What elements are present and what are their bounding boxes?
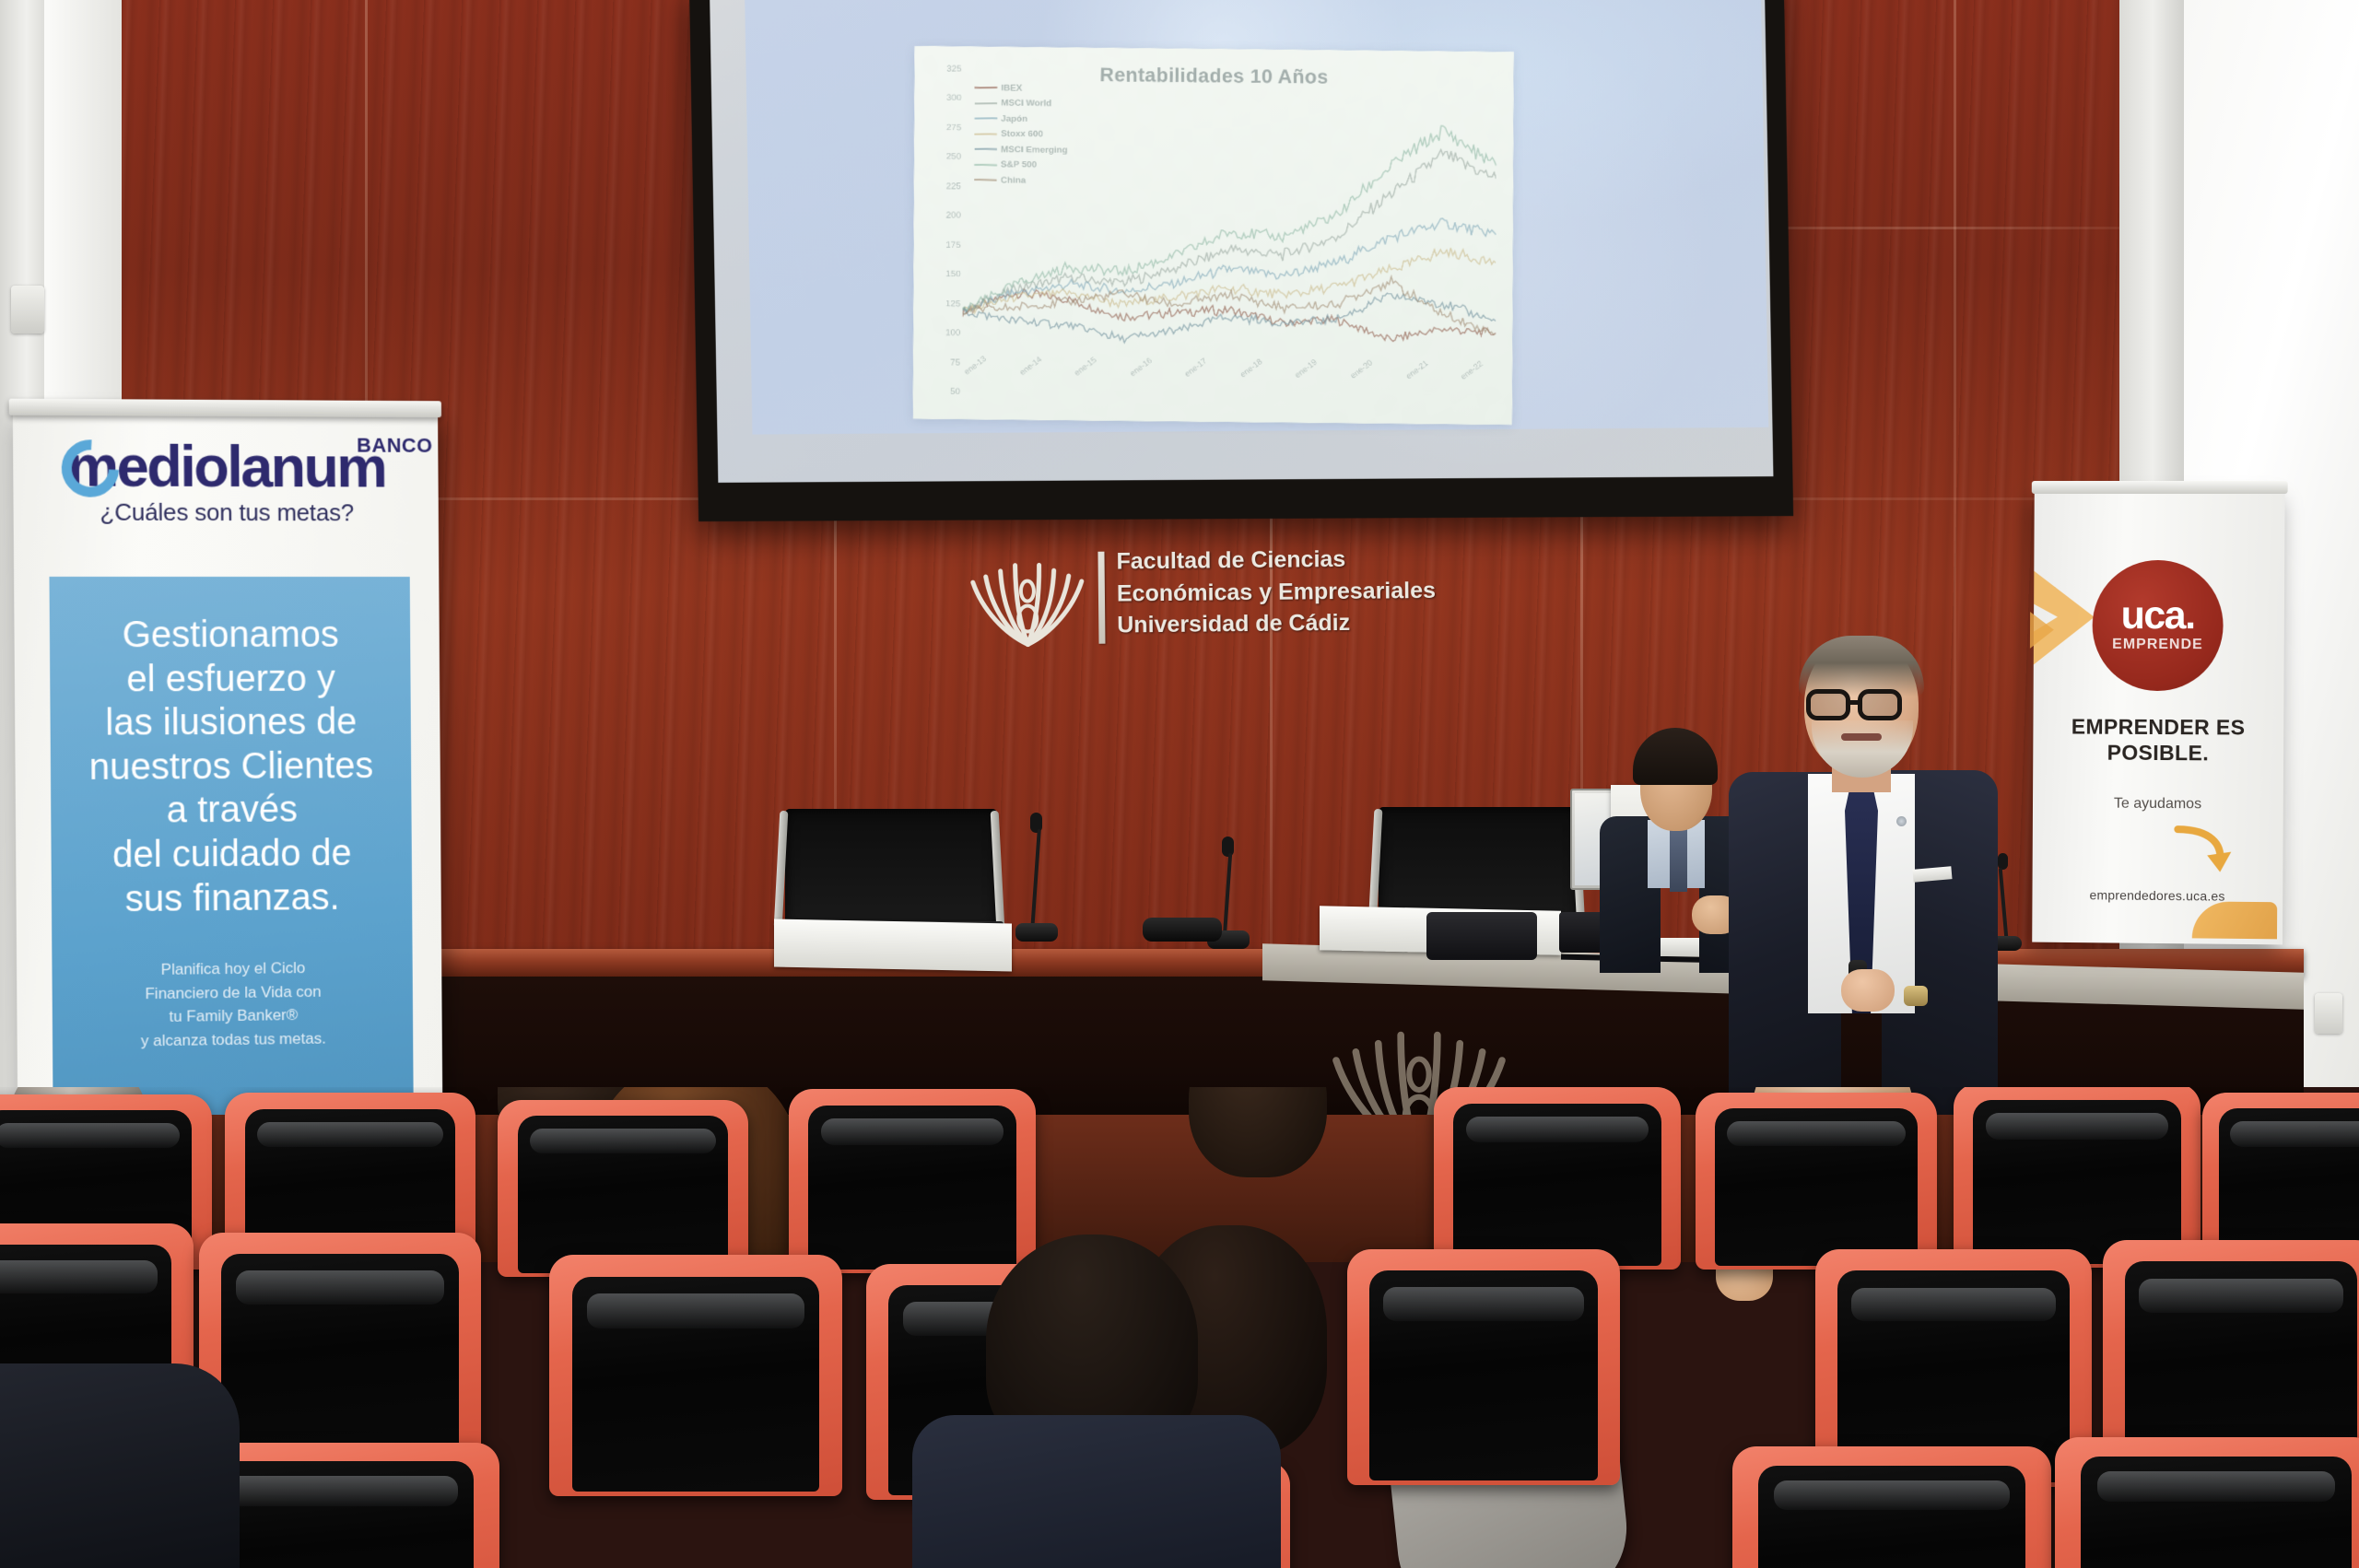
- uca-slogan-line-2: POSIBLE.: [2033, 740, 2283, 766]
- chart-series-line: [962, 214, 1496, 318]
- main-speaker: [1732, 636, 1990, 1133]
- banner-top-rail: [9, 399, 441, 418]
- speaker-mouth: [1841, 733, 1882, 741]
- seat[interactable]: [1347, 1249, 1620, 1485]
- chart-y-tick: 200: [946, 211, 961, 221]
- university-crest-icon: [967, 544, 1087, 654]
- text-line: el esfuerzo y: [50, 657, 411, 702]
- speaker-glasses-bridge: [1848, 700, 1861, 705]
- projected-image-area: Rentabilidades 10 Años 32530027525022520…: [745, 0, 1768, 435]
- speaker-hand: [1841, 969, 1895, 1012]
- chart-series-line: [962, 243, 1496, 319]
- chart-y-axis: 3253002752502252001751501251007550: [922, 68, 961, 392]
- chart-x-axis: ene-13ene-14ene-15ene-16ene-17ene-18ene-…: [962, 368, 1503, 420]
- speaker-glasses-left-lens: [1806, 689, 1850, 720]
- uca-logo-subtitle: EMPRENDE: [2112, 637, 2203, 653]
- speaker-beard: [1812, 720, 1913, 778]
- wall-outlet-icon: [11, 286, 44, 333]
- projection-screen-surface: Rentabilidades 10 Años 32530027525022520…: [710, 0, 1773, 483]
- audience-shoulders: [0, 1363, 240, 1568]
- uca-help-text: Te ayudamos: [2033, 795, 2283, 813]
- faculty-wall-sign: Facultad de Ciencias Económicas y Empres…: [967, 536, 1539, 661]
- speaker-lapel-pin: [1896, 816, 1907, 826]
- mediolanum-logo: mediolanum BANCO ¿Cuáles son tus metas?: [13, 438, 439, 527]
- chart-y-tick: 325: [946, 64, 961, 74]
- speaker-watch: [1904, 986, 1928, 1006]
- mediolanum-subtext: Planifica hoy el CicloFinanciero de la V…: [52, 955, 413, 1054]
- chart-y-tick: 50: [950, 387, 960, 397]
- chart-lines-svg: [962, 69, 1496, 371]
- uca-slogan: EMPRENDER ES POSIBLE.: [2033, 714, 2283, 766]
- curved-arrow-icon: [2174, 824, 2231, 878]
- banner-top-rail: [2032, 481, 2288, 494]
- uca-slogan-line-1: EMPRENDER ES: [2033, 714, 2283, 741]
- chart-y-tick: 175: [945, 240, 960, 250]
- mediolanum-tagline: ¿Cuáles son tus metas?: [13, 497, 438, 527]
- mediolanum-wordmark-wrap: mediolanum BANCO: [67, 438, 386, 497]
- audience-shoulders: [912, 1415, 1281, 1568]
- seat[interactable]: [789, 1089, 1036, 1273]
- panelist-tie: [1670, 825, 1687, 892]
- audience-seating: [0, 1087, 2359, 1568]
- chart-y-tick: 125: [945, 298, 960, 309]
- chart-plot-area: [962, 69, 1496, 371]
- name-card-left: [774, 919, 1012, 972]
- seat[interactable]: [1732, 1446, 2051, 1568]
- chart-y-tick: 75: [950, 357, 960, 368]
- faculty-line-2: Económicas y Empresariales: [1117, 574, 1436, 609]
- chart-series-line: [962, 273, 1496, 334]
- panel-seam-horizontal: [1760, 227, 2121, 229]
- sign-divider-bar: [1097, 552, 1105, 644]
- panelist-hair: [1633, 728, 1718, 785]
- conference-hall-photo: Rentabilidades 10 Años 32530027525022520…: [0, 0, 2359, 1568]
- text-line: sus finanzas.: [52, 875, 413, 922]
- seat[interactable]: [2055, 1437, 2359, 1568]
- text-line: nuestros Clientes: [51, 744, 412, 790]
- seat[interactable]: [199, 1233, 481, 1469]
- projection-screen: Rentabilidades 10 Años 32530027525022520…: [689, 0, 1793, 521]
- uca-emprende-rollup-banner: uca. EMPRENDE EMPRENDER ES POSIBLE. Te a…: [2032, 492, 2284, 944]
- chart-y-tick: 250: [946, 152, 961, 162]
- mediolanum-banco-label: BANCO: [357, 436, 432, 456]
- text-line: Gestionamos: [50, 614, 411, 658]
- faculty-line-1: Facultad de Ciencias: [1116, 543, 1435, 578]
- table-equipment-box: [1426, 912, 1537, 960]
- seat[interactable]: [498, 1100, 748, 1277]
- chart-y-tick: 300: [946, 93, 961, 103]
- seat[interactable]: [1434, 1087, 1681, 1270]
- text-line: las ilusiones de: [50, 701, 411, 746]
- chart-y-tick: 225: [946, 181, 961, 192]
- chart-y-tick: 150: [945, 269, 960, 279]
- uca-decorative-blob: [2192, 901, 2277, 939]
- uca-logo-name: uca.: [2121, 598, 2195, 635]
- mediolanum-headline: Gestionamosel esfuerzo ylas ilusiones de…: [50, 614, 413, 922]
- text-line: y alcanza todas tus metas.: [53, 1025, 413, 1054]
- chart-y-tick: 275: [946, 123, 961, 133]
- seat[interactable]: [549, 1255, 842, 1496]
- audience-head: [1189, 1087, 1327, 1177]
- text-line: del cuidado de: [51, 831, 412, 878]
- seat[interactable]: [1696, 1093, 1937, 1270]
- wall-switch-icon: [2315, 993, 2342, 1034]
- speaker-hair: [1799, 636, 1924, 696]
- table-remote: [1143, 918, 1222, 942]
- chart-y-tick: 100: [945, 328, 960, 338]
- faculty-line-3: Universidad de Cádiz: [1117, 606, 1436, 641]
- text-line: a través: [51, 788, 412, 834]
- faculty-sign-text: Facultad de Ciencias Económicas y Empres…: [1116, 543, 1436, 641]
- presentation-slide: Rentabilidades 10 Años 32530027525022520…: [913, 46, 1514, 425]
- uca-logo-circle: uca. EMPRENDE: [2092, 560, 2224, 691]
- speaker-glasses-right-lens: [1858, 689, 1902, 720]
